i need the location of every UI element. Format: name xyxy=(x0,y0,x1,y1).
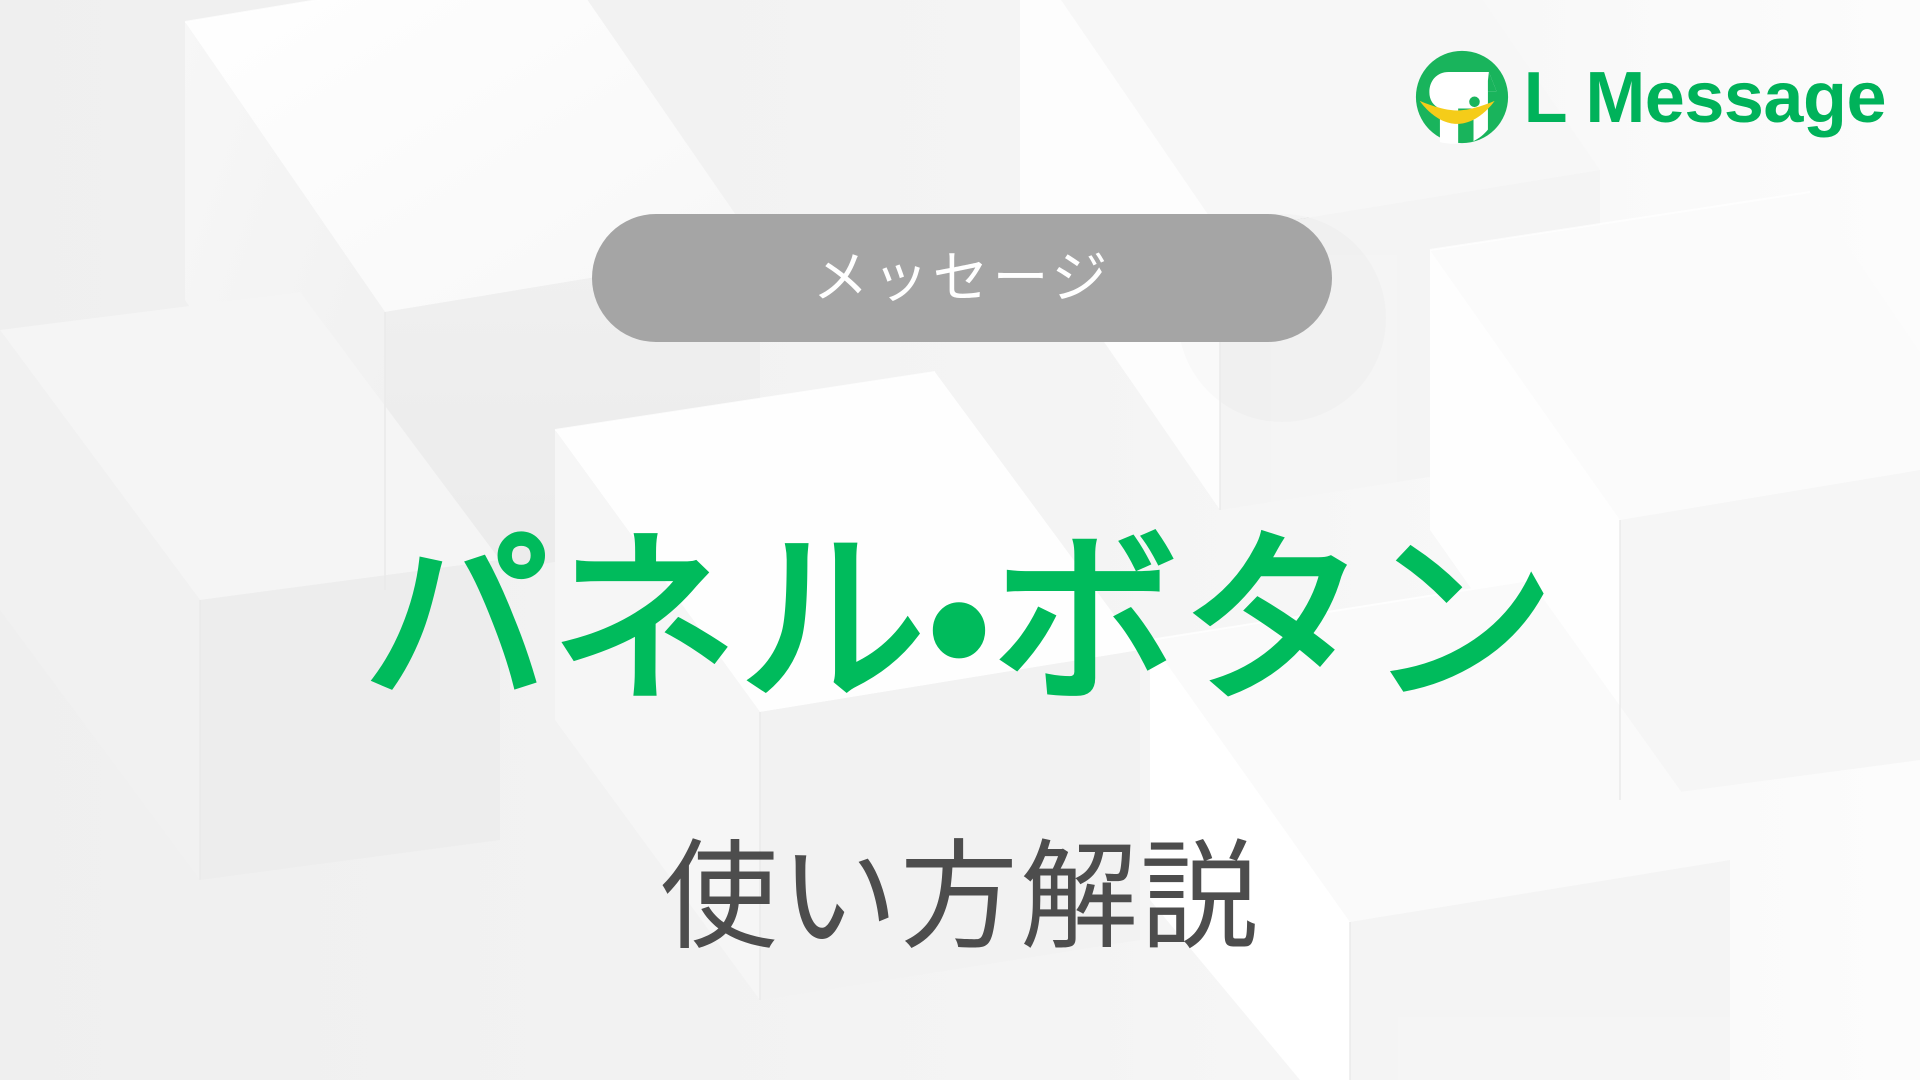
l-message-bird-logo-icon xyxy=(1414,49,1510,145)
page-subtitle: 使い方解説 xyxy=(0,833,1920,963)
brand-wordmark: L Message xyxy=(1524,62,1886,134)
category-badge-label: メッセージ xyxy=(813,250,1112,306)
thumbnail-canvas: L Message メッセージ パネル・ボタン 使い方解説 xyxy=(0,0,1920,1080)
brand-logo-lockup: L Message xyxy=(1414,48,1886,146)
page-title: パネル・ボタン xyxy=(0,520,1920,725)
category-badge: メッセージ xyxy=(592,214,1332,342)
